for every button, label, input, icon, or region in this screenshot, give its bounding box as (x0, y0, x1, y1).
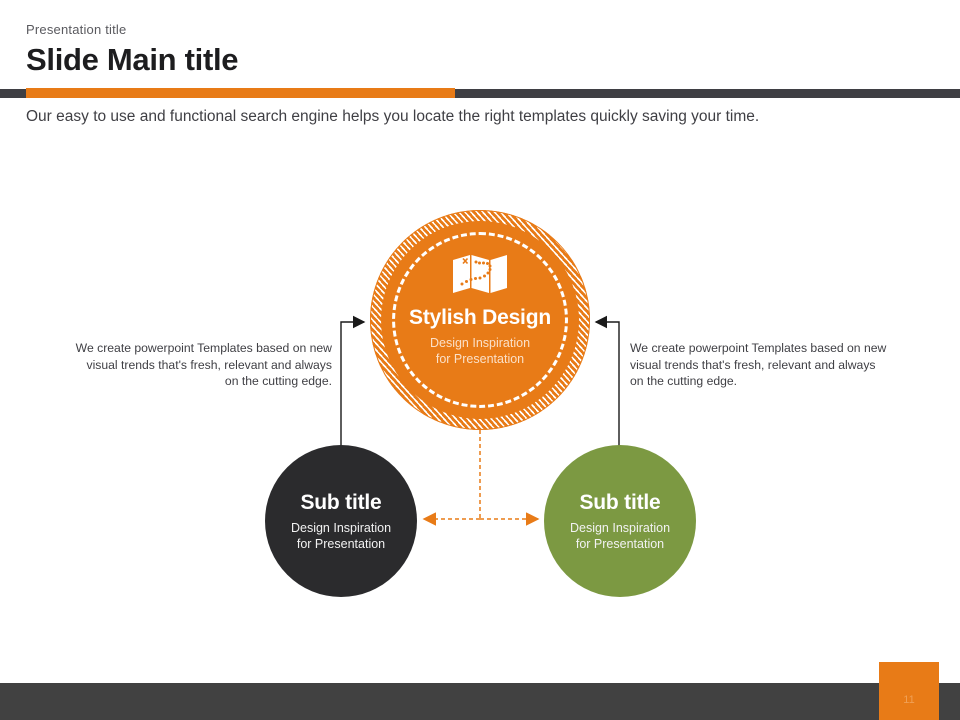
node-sub-title-dark[interactable]: Sub title Design Inspiration for Present… (265, 445, 417, 597)
page-number-chip (879, 662, 939, 720)
center-badge-subtitle-line1: Design Inspiration (430, 336, 530, 350)
center-badge-subtitle: Design Inspiration for Presentation (430, 335, 530, 367)
folded-map-icon (452, 252, 508, 296)
presentation-title-eyebrow: Presentation title (26, 22, 126, 37)
node-dark-subtitle-line1: Design Inspiration (291, 521, 391, 535)
node-dark-subtitle-line2: for Presentation (297, 537, 385, 551)
node-dark-title: Sub title (300, 491, 381, 515)
connector-center-to-nodes (424, 430, 538, 519)
page-title: Slide Main title (26, 42, 238, 78)
center-badge-title: Stylish Design (409, 306, 551, 330)
node-dark-subtitle: Design Inspiration for Presentation (291, 520, 391, 552)
center-badge-subtitle-line2: for Presentation (436, 352, 524, 366)
caption-left: We create powerpoint Templates based on … (74, 340, 332, 390)
node-green-title: Sub title (579, 491, 660, 515)
slide-intro-text: Our easy to use and functional search en… (26, 106, 796, 127)
page-number: 11 (879, 694, 939, 706)
connector-left-node-to-center (341, 322, 364, 446)
node-sub-title-green[interactable]: Sub title Design Inspiration for Present… (544, 445, 696, 597)
diagram-stage: Stylish Design Design Inspiration for Pr… (0, 190, 960, 630)
node-green-subtitle-line2: for Presentation (576, 537, 664, 551)
node-green-subtitle: Design Inspiration for Presentation (570, 520, 670, 552)
center-badge-stylish-design[interactable]: Stylish Design Design Inspiration for Pr… (370, 210, 590, 430)
connector-right-node-to-center (596, 322, 619, 446)
footer-band (0, 683, 960, 720)
node-green-subtitle-line1: Design Inspiration (570, 521, 670, 535)
header-rule-accent (26, 88, 455, 98)
caption-right: We create powerpoint Templates based on … (630, 340, 888, 390)
